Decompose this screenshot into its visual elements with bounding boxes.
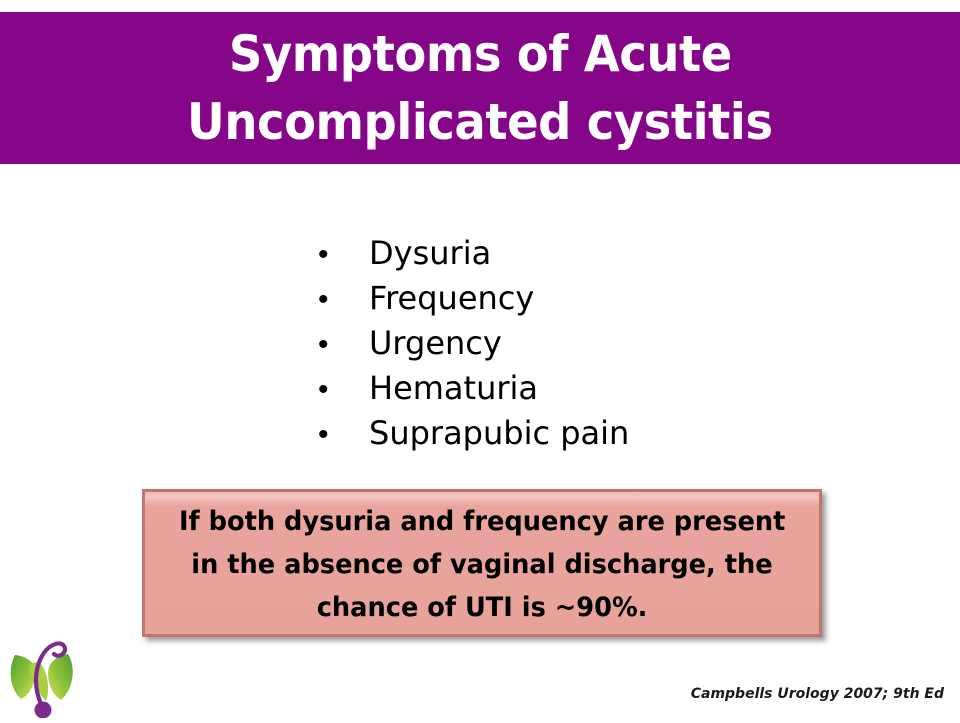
page-title-line-1: Symptoms of Acute [229,20,732,88]
source-citation: Campbells Urology 2007; 9th Ed [691,686,944,702]
slide-title-band: Symptoms of Acute Uncomplicated cystitis [0,12,960,164]
symptom-label: Dysuria [369,231,491,276]
symptom-label: Hematuria [369,366,538,411]
list-item: • Frequency [318,276,838,321]
bullet-dot-icon: • [318,322,369,367]
symptom-bullet-list: • Dysuria • Frequency • Urgency • Hematu… [318,231,838,456]
slide-canvas: Symptoms of Acute Uncomplicated cystitis… [0,0,960,720]
leaf-right-shape [48,654,73,700]
callout-text-line-1: If both dysuria and frequency are presen… [179,500,785,543]
symptom-label: Frequency [369,276,534,321]
symptom-label: Urgency [369,321,502,366]
bullet-dot-icon: • [318,277,369,322]
leaf-sprout-logo [4,632,88,718]
bullet-dot-icon: • [318,412,369,457]
list-item: • Suprapubic pain [318,411,838,456]
page-title-line-2: Uncomplicated cystitis [187,88,773,156]
list-item: • Hematuria [318,366,838,411]
list-item: • Urgency [318,321,838,366]
seed-dot-shape [35,702,52,719]
callout-text-line-2: in the absence of vaginal discharge, the [191,543,772,586]
list-item: • Dysuria [318,231,838,276]
callout-text-line-3: chance of UTI is ~90%. [317,586,648,629]
bullet-dot-icon: • [318,232,369,277]
key-fact-callout-box: If both dysuria and frequency are presen… [142,489,822,637]
symptom-label: Suprapubic pain [369,411,629,456]
bullet-dot-icon: • [318,367,369,412]
